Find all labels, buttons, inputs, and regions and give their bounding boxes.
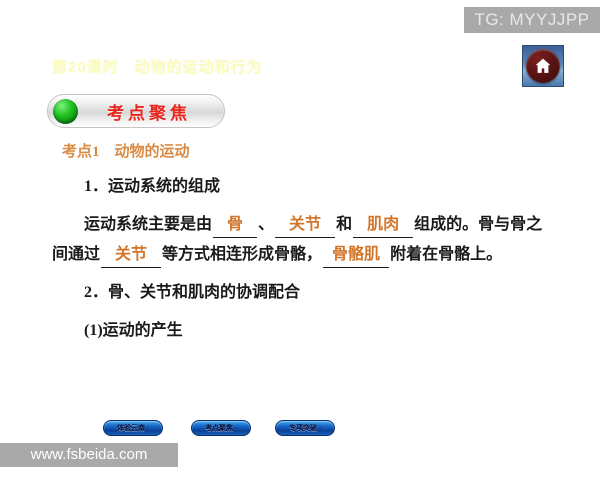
home-icon [526, 49, 560, 83]
item1-title: 1．运动系统的组成 [52, 172, 552, 202]
telegram-watermark: TG: MYYJJPP [464, 7, 600, 33]
paragraph-segment-7: 附 [390, 246, 406, 263]
chevron-right-icon: › [319, 425, 321, 431]
nav-button-1[interactable]: 考点聚焦 › [191, 420, 251, 436]
focus-banner-label: 考点聚焦 [78, 99, 224, 124]
blank-answer-3[interactable]: 肌肉 [353, 214, 413, 238]
nav-button-0-label: 体验云南 [117, 423, 145, 433]
nav-button-0[interactable]: 体验云南 › [103, 420, 163, 436]
content-body: 1．运动系统的组成 运动系统主要是由骨、关节和肌肉组成的。骨与骨之间通过关节等方… [52, 172, 552, 346]
blank-answer-2[interactable]: 关节 [275, 214, 335, 238]
paragraph-segment-6: 等方式相连形成骨骼， [162, 246, 322, 263]
nav-button-2[interactable]: 专项突破 › [275, 420, 335, 436]
paragraph-segment-8: 着在骨骼上。 [406, 246, 502, 263]
paragraph-segment-1: 运动系统主要是由 [52, 216, 212, 233]
bottom-nav: 体验云南 › 考点聚焦 › 专项突破 › [103, 420, 363, 438]
green-circle-icon [53, 99, 78, 124]
page-title: 第20课时 动物的运动和行为 [52, 56, 263, 77]
blank-answer-5[interactable]: 骨骼肌 [323, 244, 389, 268]
blank-answer-4[interactable]: 关节 [101, 244, 161, 268]
focus-banner: 考点聚焦 [47, 94, 225, 128]
section-heading: 考点1 动物的运动 [62, 140, 190, 161]
site-watermark: www.fsbeida.com [0, 443, 178, 467]
home-button[interactable] [522, 45, 564, 87]
item2-sub1: (1)运动的产生 [52, 316, 552, 346]
nav-button-1-label: 考点聚焦 [205, 423, 233, 433]
item2-title: 2．骨、关节和肌肉的协调配合 [52, 278, 552, 308]
paragraph-segment-2: 、 [258, 216, 274, 233]
paragraph-segment-3: 和 [336, 216, 352, 233]
paragraph-segment-4: 组成的 [414, 216, 462, 233]
fill-in-paragraph: 运动系统主要是由骨、关节和肌肉组成的。骨与骨之间通过关节等方式相连形成骨骼，骨骼… [52, 210, 552, 270]
chevron-right-icon: › [147, 425, 149, 431]
nav-button-2-label: 专项突破 [289, 423, 317, 433]
blank-answer-1[interactable]: 骨 [213, 214, 257, 238]
chevron-right-icon: › [235, 425, 237, 431]
